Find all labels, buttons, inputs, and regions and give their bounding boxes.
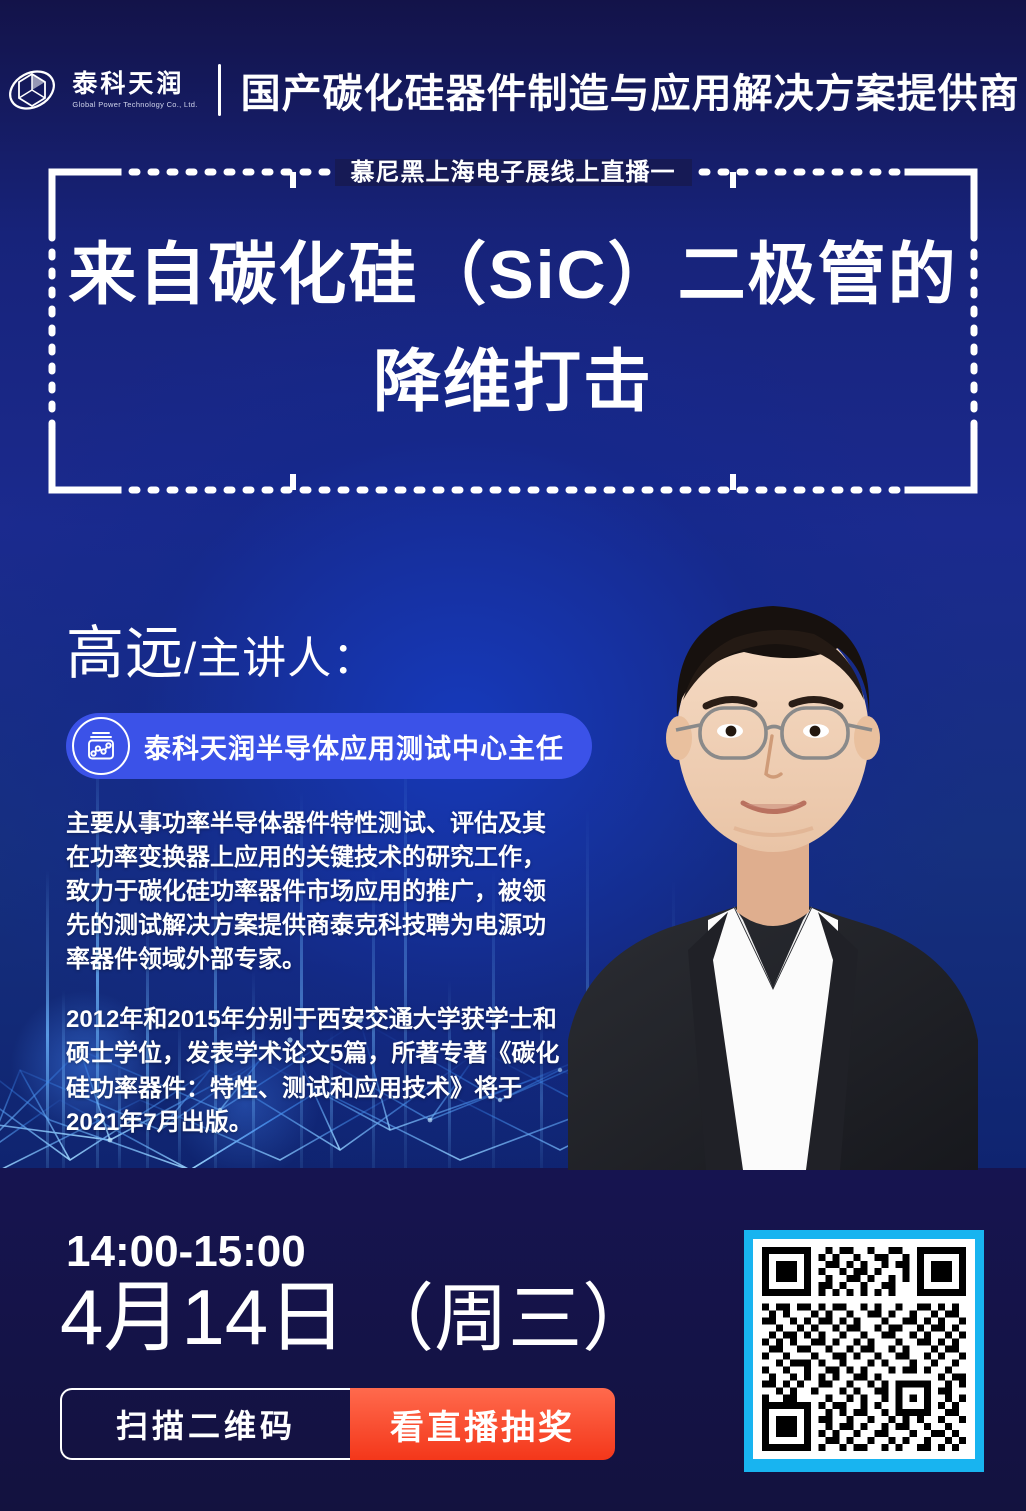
bio-paragraph-1: 主要从事功率半导体器件特性测试、评估及其在功率变换器上应用的关键技术的研究工作，…: [66, 807, 564, 977]
logo-chinese-name: 泰科天润: [72, 72, 197, 97]
speaker-title-badge: 泰科天润半导体应用测试中心主任: [66, 713, 592, 779]
poster-header: 泰科天润 Global Power Technology Co., Ltd. 国…: [0, 50, 1026, 130]
scan-qr-button[interactable]: 扫描二维码: [60, 1388, 350, 1460]
speaker-title-text: 泰科天润半导体应用测试中心主任: [144, 727, 564, 766]
logo-english-name: Global Power Technology Co., Ltd.: [72, 101, 197, 109]
schedule-date-row: 4月14日 （周三）: [60, 1278, 656, 1356]
schedule-weekday: （周三）: [360, 1282, 656, 1356]
qr-code-frame[interactable]: [744, 1230, 984, 1472]
header-slogan: 国产碳化硅器件制造与应用解决方案提供商: [241, 61, 1020, 119]
watch-live-button[interactable]: 看直播抽奖: [350, 1388, 615, 1460]
speaker-name: 高远: [66, 621, 184, 686]
event-label: 慕尼黑上海电子展线上直播一: [48, 152, 978, 187]
brand-logo: 泰科天润 Global Power Technology Co., Ltd.: [6, 64, 197, 116]
event-label-text: 慕尼黑上海电子展线上直播一: [335, 159, 692, 186]
chart-board-icon: [72, 717, 130, 775]
webinar-poster: 泰科天润 Global Power Technology Co., Ltd. 国…: [0, 0, 1026, 1511]
poster-title: 来自碳化硅（SiC）二极管的 降维打击: [48, 222, 978, 437]
bio-paragraph-2: 2012年和2015年分别于西安交通大学获学士和硕士学位，发表学术论文5篇，所著…: [66, 1003, 564, 1139]
poster-footer: 14:00-15:00 4月14日 （周三） 扫描二维码 看直播抽奖: [0, 1168, 1026, 1511]
cta-group[interactable]: 扫描二维码 看直播抽奖: [60, 1388, 615, 1460]
title-line-2: 降维打击: [48, 329, 978, 436]
title-line-1: 来自碳化硅（SiC）二极管的: [48, 222, 978, 329]
header-divider: [218, 64, 221, 116]
title-frame: 慕尼黑上海电子展线上直播一 来自碳化硅（SiC）二极管的 降维打击: [48, 168, 978, 494]
schedule-date: 4月14日: [60, 1278, 346, 1356]
qr-code-icon[interactable]: [753, 1239, 975, 1459]
speaker-name-row: 高远/主讲人：: [66, 625, 646, 683]
schedule-time: 14:00-15:00: [66, 1230, 306, 1274]
speaker-bio: 主要从事功率半导体器件特性测试、评估及其在功率变换器上应用的关键技术的研究工作，…: [66, 807, 564, 1140]
cube-orbit-icon: [6, 64, 58, 116]
speaker-section: 高远/主讲人： 泰科天润半导体应用测试中心主任 主要从事功率半导体器件特性测试、…: [66, 625, 646, 1140]
speaker-role-label: /主讲人：: [184, 634, 377, 683]
